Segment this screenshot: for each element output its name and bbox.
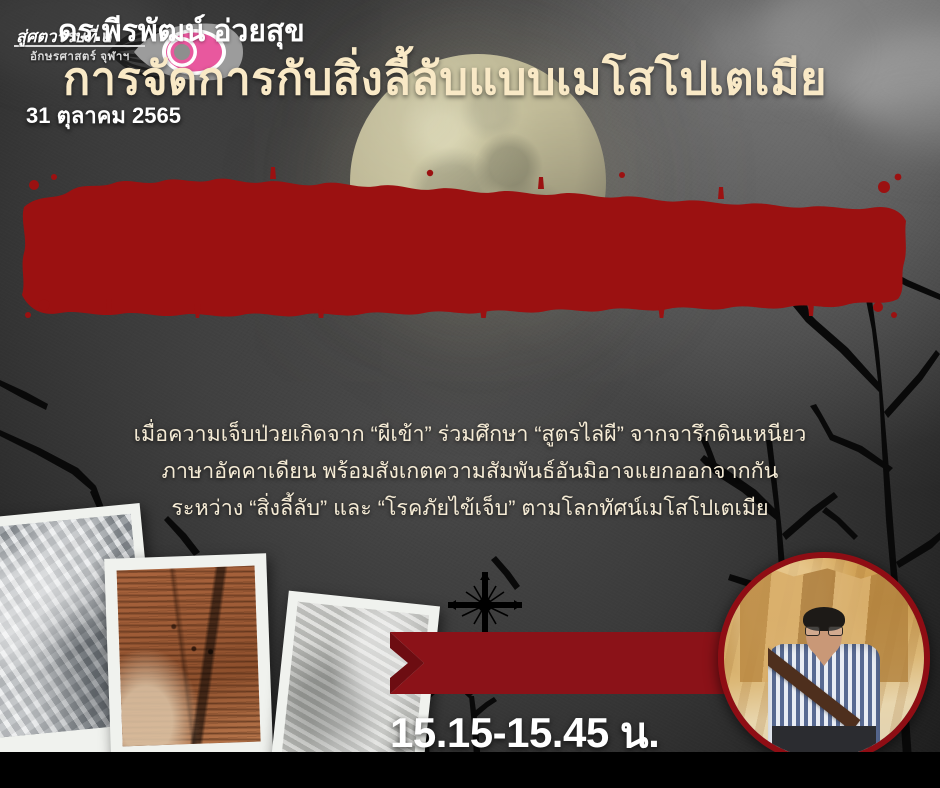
description-line: ภาษาอัคคาเดียน พร้อมสังเกตความสัมพันธ์อั… <box>0 453 940 490</box>
event-poster: สู่ศตวรรษที่ ๒ อักษรศาสตร์ จุฬาฯ 31 ตุลา… <box>0 0 940 788</box>
title-banner <box>18 163 908 318</box>
speaker-name: ดร.พีรพัฒน์ อ่วยสุข <box>0 0 450 62</box>
bottom-band <box>0 752 940 788</box>
speaker-portrait <box>718 552 930 764</box>
cuneiform-clay-tablet-photo <box>104 553 274 781</box>
event-description: เมื่อความเจ็บป่วยเกิดจาก “ผีเข้า” ร่วมศึ… <box>0 416 940 527</box>
description-line: เมื่อความเจ็บป่วยเกิดจาก “ผีเข้า” ร่วมศึ… <box>0 416 940 453</box>
photo-image <box>117 566 261 747</box>
glasses-icon <box>805 626 843 636</box>
